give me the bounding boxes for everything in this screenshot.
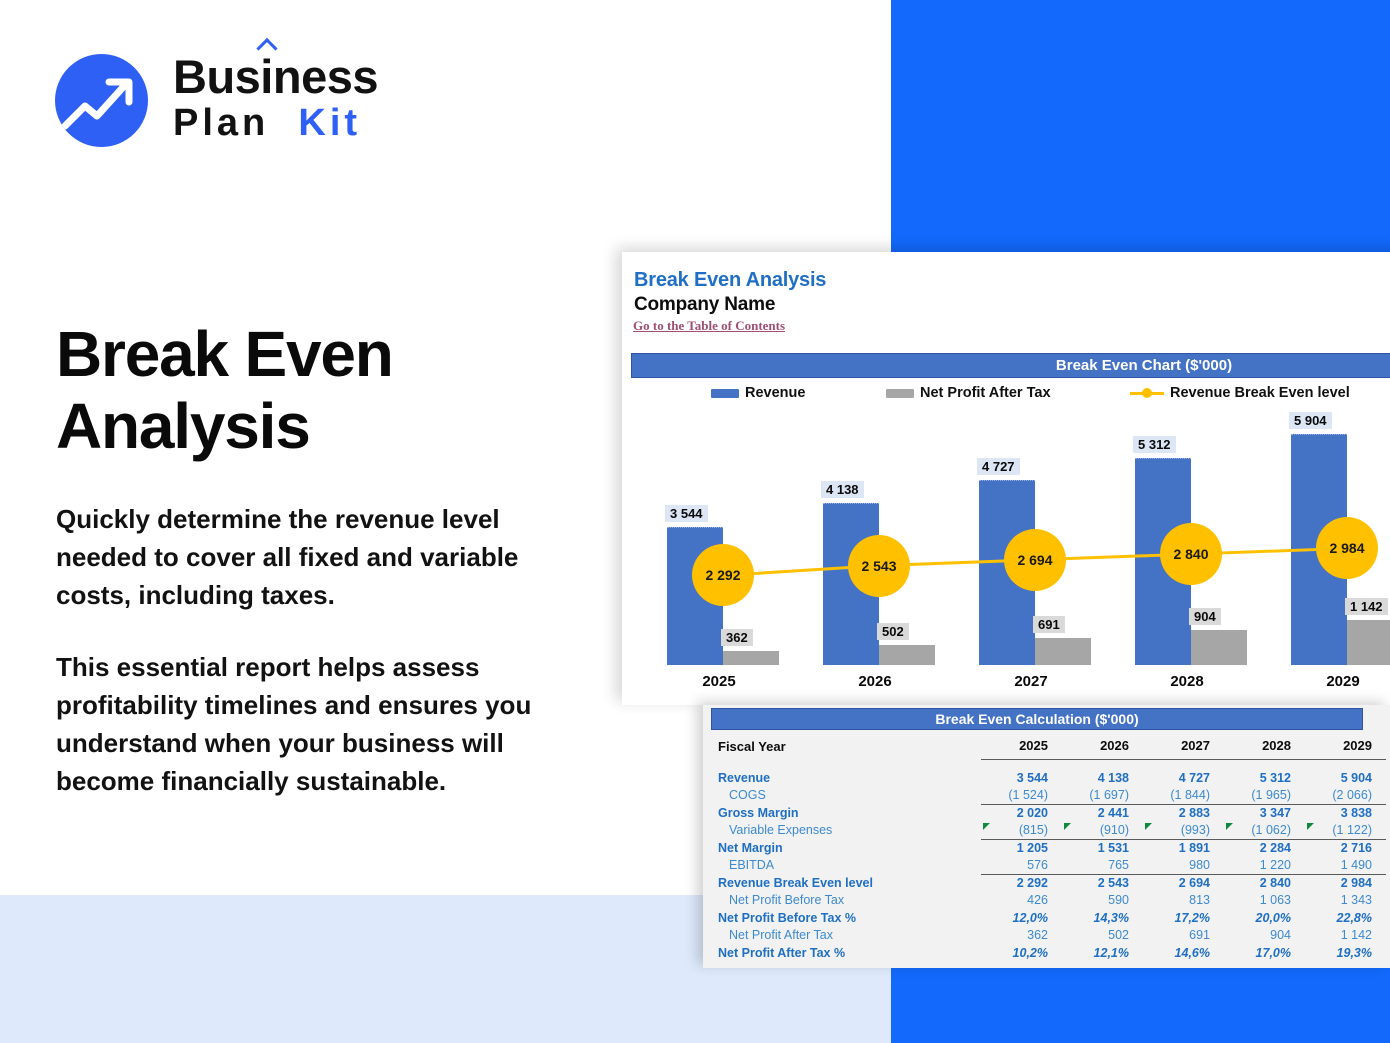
- chart-bars-container: 3 54436220254 13850220264 72769120275 31…: [631, 415, 1390, 665]
- break-even-table: Fiscal Year20252026202720282029Revenue3 …: [711, 733, 1386, 962]
- cell-2026[interactable]: 14,3%: [1062, 909, 1143, 927]
- x-axis-label-2028: 2028: [1109, 673, 1265, 690]
- cell-2029[interactable]: 2 984: [1305, 874, 1386, 892]
- table-row: Net Profit Before Tax %12,0%14,3%17,2%20…: [711, 909, 1386, 927]
- cell-2026[interactable]: 2 441: [1062, 804, 1143, 822]
- cell-2025[interactable]: (815): [981, 822, 1062, 840]
- x-axis-label-2027: 2027: [953, 673, 1109, 690]
- data-label-npat-2025: 362: [721, 629, 753, 646]
- row-label: Net Profit After Tax %: [711, 944, 981, 962]
- bar-net-profit-after-tax-2029[interactable]: [1347, 620, 1390, 665]
- cell-2026[interactable]: (910): [1062, 822, 1143, 840]
- row-label: Net Margin: [711, 839, 981, 857]
- company-name-label: Company Name: [634, 294, 775, 316]
- logo-growth-arrow-icon: [55, 54, 148, 147]
- table-row: Revenue Break Even level2 2922 5432 6942…: [711, 874, 1386, 892]
- cell-2027[interactable]: (1 844): [1143, 787, 1224, 805]
- table-row: EBITDA5767659801 2201 490: [711, 857, 1386, 875]
- table-row: COGS(1 524)(1 697)(1 844)(1 965)(2 066): [711, 787, 1386, 805]
- table-title-bar: Break Even Calculation ($'000): [711, 708, 1363, 730]
- data-label-revenue-2025: 3 544: [665, 505, 708, 522]
- background-block-top-right: [891, 0, 1390, 252]
- bar-net-profit-after-tax-2026[interactable]: [879, 645, 935, 665]
- bar-net-profit-after-tax-2027[interactable]: [1035, 638, 1091, 665]
- cell-2029[interactable]: 19,3%: [1305, 944, 1386, 962]
- cell-2025[interactable]: 2 020: [981, 804, 1062, 822]
- row-label: Variable Expenses: [711, 822, 981, 840]
- table-spacer-row: [711, 759, 1386, 769]
- cell-2028[interactable]: 1 063: [1224, 892, 1305, 910]
- cell-2029[interactable]: 3 838: [1305, 804, 1386, 822]
- chart-title-bar: Break Even Chart ($'000): [631, 353, 1390, 378]
- cell-2027[interactable]: 14,6%: [1143, 944, 1224, 962]
- cell-2029[interactable]: (2 066): [1305, 787, 1386, 805]
- cell-2026[interactable]: 590: [1062, 892, 1143, 910]
- cell-2029[interactable]: 2 716: [1305, 839, 1386, 857]
- cell-2028[interactable]: 20,0%: [1224, 909, 1305, 927]
- description-paragraph-2: This essential report helps assess profi…: [56, 648, 571, 800]
- cell-2026[interactable]: 2 543: [1062, 874, 1143, 892]
- cell-2028[interactable]: (1 965): [1224, 787, 1305, 805]
- table-spacer-cell: [711, 759, 1386, 769]
- chart-group-2028: 5 3129042028: [1109, 415, 1265, 665]
- chart-title: Break Even Chart ($'000): [1056, 357, 1232, 374]
- cell-2027[interactable]: 980: [1143, 857, 1224, 875]
- table-row: Net Profit After Tax %10,2%12,1%14,6%17,…: [711, 944, 1386, 962]
- cell-2026[interactable]: 4 138: [1062, 769, 1143, 787]
- cell-2025[interactable]: 10,2%: [981, 944, 1062, 962]
- cell-2028[interactable]: 904: [1224, 927, 1305, 945]
- chart-group-2025: 3 5443622025: [641, 415, 797, 665]
- data-label-npat-2027: 691: [1033, 616, 1065, 633]
- row-label: Net Profit After Tax: [711, 927, 981, 945]
- cell-2029[interactable]: 1 343: [1305, 892, 1386, 910]
- table-row: Net Profit After Tax3625026919041 142: [711, 927, 1386, 945]
- data-label-npat-2029: 1 142: [1345, 598, 1388, 615]
- data-label-revenue-2027: 4 727: [977, 458, 1020, 475]
- cell-2025[interactable]: 3 544: [981, 769, 1062, 787]
- table-title: Break Even Calculation ($'000): [935, 711, 1138, 727]
- bar-revenue-2025[interactable]: [667, 527, 723, 665]
- cell-2027[interactable]: 1 891: [1143, 839, 1224, 857]
- bar-revenue-2029[interactable]: [1291, 434, 1347, 665]
- column-header-2026: 2026: [1062, 733, 1143, 759]
- cell-2026[interactable]: 502: [1062, 927, 1143, 945]
- cell-2027[interactable]: 2 694: [1143, 874, 1224, 892]
- cell-2028[interactable]: 17,0%: [1224, 944, 1305, 962]
- cell-2029[interactable]: (1 122): [1305, 822, 1386, 840]
- legend-swatch-npat-icon: [886, 389, 914, 398]
- cell-2025[interactable]: 1 205: [981, 839, 1062, 857]
- legend-label-npat: Net Profit After Tax: [920, 385, 1051, 401]
- data-label-npat-2028: 904: [1189, 608, 1221, 625]
- logo-word-business: Business: [173, 52, 438, 102]
- page-title: Break Even Analysis: [56, 318, 576, 462]
- data-label-revenue-2028: 5 312: [1133, 436, 1176, 453]
- data-label-revenue-2029: 5 904: [1289, 412, 1332, 429]
- description-paragraph-1: Quickly determine the revenue level need…: [56, 500, 561, 614]
- x-axis-label-2026: 2026: [797, 673, 953, 690]
- row-label: COGS: [711, 787, 981, 805]
- legend-label-break-even: Revenue Break Even level: [1170, 385, 1350, 401]
- bar-revenue-2027[interactable]: [979, 480, 1035, 665]
- worksheet-title: Break Even Analysis: [634, 269, 826, 292]
- legend-swatch-break-even-icon: [1130, 388, 1164, 398]
- logo-wordmark: Business Plan Kit: [173, 52, 438, 144]
- table-of-contents-link[interactable]: Go to the Table of Contents: [633, 318, 785, 334]
- cell-2028[interactable]: 1 220: [1224, 857, 1305, 875]
- row-label: EBITDA: [711, 857, 981, 875]
- cell-2025[interactable]: 12,0%: [981, 909, 1062, 927]
- legend-item-net-profit-after-tax[interactable]: Net Profit After Tax: [886, 385, 1051, 401]
- cell-2025[interactable]: 426: [981, 892, 1062, 910]
- cell-2025[interactable]: 2 292: [981, 874, 1062, 892]
- row-label: Net Profit Before Tax %: [711, 909, 981, 927]
- row-label: Gross Margin: [711, 804, 981, 822]
- table-row: Variable Expenses(815)(910)(993)(1 062)(…: [711, 822, 1386, 840]
- background-block-bottom-right: [891, 968, 1390, 1043]
- chart-group-2026: 4 1385022026: [797, 415, 953, 665]
- cell-2026[interactable]: 1 531: [1062, 839, 1143, 857]
- brand-logo: Business Plan Kit: [55, 52, 435, 152]
- column-header-2029: 2029: [1305, 733, 1386, 759]
- cell-2028[interactable]: 2 284: [1224, 839, 1305, 857]
- cell-2028[interactable]: 3 347: [1224, 804, 1305, 822]
- cell-2027[interactable]: (993): [1143, 822, 1224, 840]
- break-even-calculation-card: Break Even Calculation ($'000) Fiscal Ye…: [703, 705, 1390, 968]
- cell-2027[interactable]: 2 883: [1143, 804, 1224, 822]
- row-label: Revenue: [711, 769, 981, 787]
- chart-plot-area: 3 54436220254 13850220264 72769120275 31…: [631, 415, 1390, 705]
- break-even-chart-card: Break Even Analysis Company Name Go to t…: [622, 252, 1390, 705]
- cell-2027[interactable]: 813: [1143, 892, 1224, 910]
- chart-group-2029: 5 9041 1422029: [1265, 415, 1390, 665]
- table-row: Net Margin1 2051 5311 8912 2842 716: [711, 839, 1386, 857]
- cell-2029[interactable]: 1 142: [1305, 927, 1386, 945]
- cell-2026[interactable]: 12,1%: [1062, 944, 1143, 962]
- table-row: Revenue3 5444 1384 7275 3125 904: [711, 769, 1386, 787]
- cell-2028[interactable]: 2 840: [1224, 874, 1305, 892]
- cell-2028[interactable]: 5 312: [1224, 769, 1305, 787]
- slide-canvas: Business Plan Kit Break Even Analysis Qu…: [0, 0, 1390, 1043]
- table-header-row: Fiscal Year20252026202720282029: [711, 733, 1386, 759]
- bar-revenue-2026[interactable]: [823, 503, 879, 665]
- table-row: Gross Margin2 0202 4412 8833 3473 838: [711, 804, 1386, 822]
- table-row: Net Profit Before Tax4265908131 0631 343: [711, 892, 1386, 910]
- x-axis-label-2029: 2029: [1265, 673, 1390, 690]
- cell-2025[interactable]: 362: [981, 927, 1062, 945]
- bar-revenue-2028[interactable]: [1135, 458, 1191, 666]
- cell-2029[interactable]: 22,8%: [1305, 909, 1386, 927]
- cell-2029[interactable]: 5 904: [1305, 769, 1386, 787]
- logo-word-plan-kit: Plan Kit: [173, 102, 438, 144]
- cell-2028[interactable]: (1 062): [1224, 822, 1305, 840]
- cell-2025[interactable]: 576: [981, 857, 1062, 875]
- bar-net-profit-after-tax-2028[interactable]: [1191, 630, 1247, 665]
- column-header-2027: 2027: [1143, 733, 1224, 759]
- cell-2026[interactable]: 765: [1062, 857, 1143, 875]
- bar-net-profit-after-tax-2025[interactable]: [723, 651, 779, 665]
- cell-2026[interactable]: (1 697): [1062, 787, 1143, 805]
- column-header-2028: 2028: [1224, 733, 1305, 759]
- column-header-2025: 2025: [981, 733, 1062, 759]
- x-axis-label-2025: 2025: [641, 673, 797, 690]
- cell-2027[interactable]: 4 727: [1143, 769, 1224, 787]
- row-label: Revenue Break Even level: [711, 874, 981, 892]
- chart-group-2027: 4 7276912027: [953, 415, 1109, 665]
- chart-legend: Revenue Net Profit After Tax Revenue Bre…: [622, 385, 1390, 407]
- cell-2025[interactable]: (1 524): [981, 787, 1062, 805]
- legend-item-revenue[interactable]: Revenue: [711, 385, 805, 401]
- legend-item-break-even-level[interactable]: Revenue Break Even level: [1130, 385, 1350, 401]
- cell-2027[interactable]: 691: [1143, 927, 1224, 945]
- legend-label-revenue: Revenue: [745, 385, 805, 401]
- column-header-fiscal-year: Fiscal Year: [711, 733, 981, 759]
- legend-swatch-revenue-icon: [711, 389, 739, 398]
- row-label: Net Profit Before Tax: [711, 892, 981, 910]
- data-label-revenue-2026: 4 138: [821, 481, 864, 498]
- cell-2029[interactable]: 1 490: [1305, 857, 1386, 875]
- data-label-npat-2026: 502: [877, 623, 909, 640]
- cell-2027[interactable]: 17,2%: [1143, 909, 1224, 927]
